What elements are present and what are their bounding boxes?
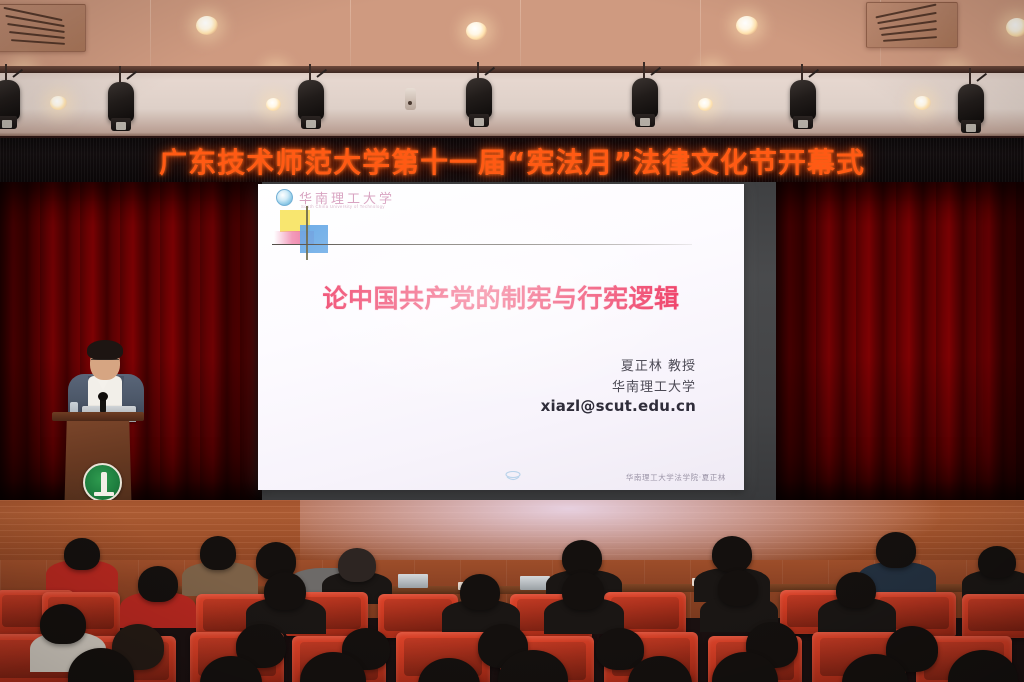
- audience-seating: [0, 528, 1024, 682]
- speaker-glasses-icon: [91, 359, 119, 363]
- slide-footer-mark-icon: [504, 471, 522, 482]
- slide-deco-vertical-line: [306, 206, 308, 260]
- stage-spotlight: [298, 80, 324, 134]
- auditorium-seat: [962, 594, 1024, 638]
- audience-laptop: [398, 574, 428, 588]
- audience-head: [718, 570, 758, 606]
- stage-spotlight: [632, 78, 658, 132]
- slide-logo-en: South China University of Technology: [301, 204, 385, 209]
- audience-head: [876, 532, 916, 568]
- audience-head: [836, 572, 876, 608]
- audience-head: [40, 604, 86, 644]
- audience-head: [64, 538, 100, 570]
- ceiling-vent: [0, 4, 86, 52]
- audience-head: [138, 566, 178, 602]
- slide-deco-blue-square: [300, 225, 328, 253]
- slide-byline: 夏正林 教授 华南理工大学 xiazl@scut.edu.cn: [541, 355, 696, 415]
- ceiling-downlight: [466, 22, 487, 40]
- stage-spotlight: [790, 80, 816, 134]
- podium-top: [52, 412, 144, 421]
- soffit-downlight: [914, 96, 931, 110]
- slide-deco-horizontal-rule: [272, 244, 692, 245]
- projection-screen: 华南理工大学 South China University of Technol…: [258, 184, 744, 490]
- ceiling-downlight: [196, 16, 218, 35]
- led-banner: 广东技术师范大学第十一届“宪法月”法律文化节开幕式: [0, 136, 1024, 184]
- slide-speaker-name: 夏正林 教授: [541, 355, 696, 374]
- lighting-soffit: [0, 68, 1024, 138]
- slide-university-logo: 华南理工大学 South China University of Technol…: [276, 188, 395, 207]
- ceiling-vent: [866, 2, 958, 48]
- audience-head: [460, 574, 500, 610]
- stage-spotlight: [466, 78, 492, 132]
- audience-head: [562, 572, 604, 610]
- stage-spotlight: [108, 82, 134, 136]
- university-emblem-icon: [83, 463, 122, 502]
- slide-speaker-email: xiazl@scut.edu.cn: [541, 397, 696, 415]
- stage-spotlight: [0, 80, 20, 134]
- ceiling-downlight: [736, 16, 758, 35]
- ceiling-downlight: [1006, 18, 1024, 37]
- scut-logo-icon: [276, 189, 293, 206]
- soffit-downlight: [266, 98, 281, 111]
- stage-curtain-right: [776, 182, 1024, 500]
- audience-head: [562, 540, 602, 576]
- soffit-front-edge: [0, 66, 1024, 73]
- soffit-downlight: [50, 96, 67, 110]
- slide-speaker-affiliation: 华南理工大学: [541, 376, 696, 395]
- lecture-hall-photo: 广东技术师范大学第十一届“宪法月”法律文化节开幕式 华南理工大学 South C…: [0, 0, 1024, 682]
- audience-head: [338, 548, 376, 582]
- smoke-detector-icon: [405, 88, 416, 110]
- led-banner-text: 广东技术师范大学第十一届“宪法月”法律文化节开幕式: [0, 138, 1024, 184]
- audience-head: [264, 572, 306, 610]
- audience-head: [200, 536, 236, 570]
- audience-head: [978, 546, 1016, 578]
- stage-spotlight: [958, 84, 984, 138]
- audience-head: [712, 536, 752, 572]
- slide-title: 论中国共产党的制宪与行宪逻辑: [258, 279, 744, 315]
- slide-footer-text: 华南理工大学法学院·夏正林: [626, 472, 726, 483]
- speaker-hair: [87, 340, 123, 360]
- soffit-downlight: [698, 98, 713, 111]
